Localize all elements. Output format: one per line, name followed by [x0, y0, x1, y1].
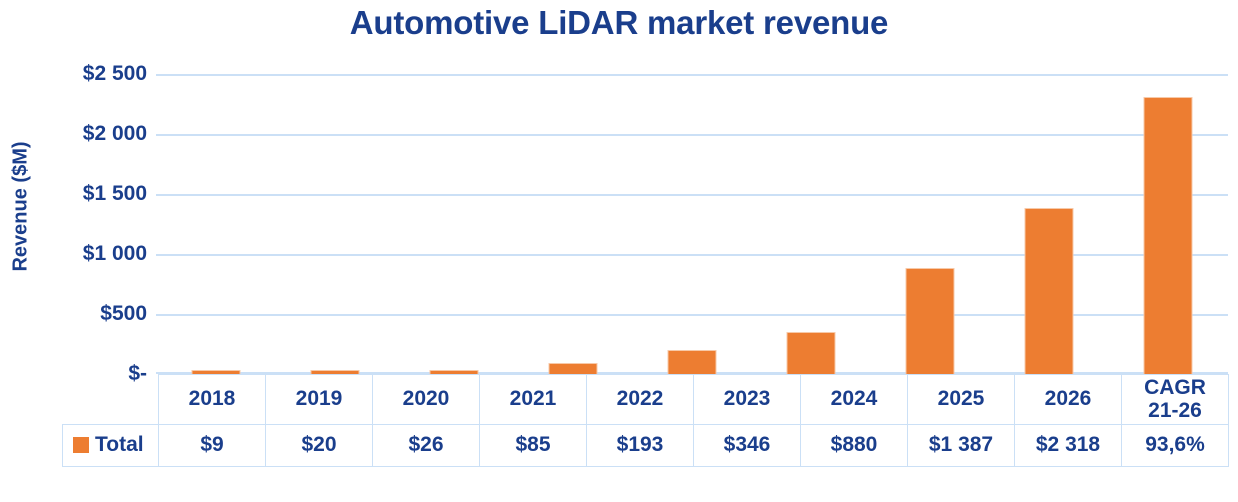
table-header-2019: 2019: [266, 375, 373, 425]
cagr-header-line2: 21-26: [1122, 400, 1228, 422]
y-tick-label-1000: $1 000: [39, 242, 147, 266]
table-header-2018: 2018: [159, 375, 266, 425]
table-header-2022: 2022: [587, 375, 694, 425]
bar-slot-2025: [990, 74, 1109, 374]
legend-swatch-icon: [73, 437, 89, 453]
table-value-2020: $26: [373, 425, 480, 467]
legend-total: Total: [63, 425, 159, 467]
bar-2021[interactable]: [549, 364, 596, 374]
bar-2023[interactable]: [788, 333, 835, 374]
bar-slot-2022: [632, 74, 751, 374]
table-header-2025: 2025: [908, 375, 1015, 425]
bar-2026[interactable]: [1145, 98, 1192, 374]
bar-2025[interactable]: [1026, 209, 1073, 374]
y-tick-label-2500: $2 500: [39, 62, 147, 86]
bar-slot-2026: [1109, 74, 1228, 374]
table-header-2024: 2024: [801, 375, 908, 425]
table-header-2026: 2026: [1015, 375, 1122, 425]
table-header-2021: 2021: [480, 375, 587, 425]
y-tick-label-2000: $2 000: [39, 122, 147, 146]
bars-layer: [156, 74, 1228, 374]
table-header-2020: 2020: [373, 375, 480, 425]
y-tick-label-1500: $1 500: [39, 182, 147, 206]
legend-label: Total: [95, 434, 144, 456]
table-corner-cell: [63, 375, 159, 425]
table-row-categories: 2018 2019 2020 2021 2022 2023 2024 2025 …: [63, 375, 1229, 425]
bar-slot-2024: [871, 74, 990, 374]
data-table: 2018 2019 2020 2021 2022 2023 2024 2025 …: [62, 374, 1229, 467]
table-header-2023: 2023: [694, 375, 801, 425]
plot-area: [156, 74, 1228, 374]
bar-slot-2021: [513, 74, 632, 374]
table-value-2025: $1 387: [908, 425, 1015, 467]
table-header-cagr: CAGR 21-26: [1122, 375, 1229, 425]
bar-2024[interactable]: [907, 269, 954, 374]
bar-slot-2023: [752, 74, 871, 374]
table-value-2022: $193: [587, 425, 694, 467]
bar-slot-2020: [394, 74, 513, 374]
table-value-2018: $9: [159, 425, 266, 467]
chart-title: Automotive LiDAR market revenue: [0, 4, 1238, 42]
table-row-values: Total $9 $20 $26 $85 $193 $346 $880 $1 3…: [63, 425, 1229, 467]
bar-2022[interactable]: [668, 351, 715, 374]
y-tick-label-500: $500: [39, 302, 147, 326]
table-value-2026: $2 318: [1015, 425, 1122, 467]
table-value-2024: $880: [801, 425, 908, 467]
chart-container: Automotive LiDAR market revenue Revenue …: [0, 0, 1238, 502]
table-value-2023: $346: [694, 425, 801, 467]
table-value-cagr: 93,6%: [1122, 425, 1229, 467]
bar-slot-2018: [156, 74, 275, 374]
table-value-2021: $85: [480, 425, 587, 467]
table-value-2019: $20: [266, 425, 373, 467]
cagr-header-line1: CAGR: [1122, 377, 1228, 399]
bar-slot-2019: [275, 74, 394, 374]
